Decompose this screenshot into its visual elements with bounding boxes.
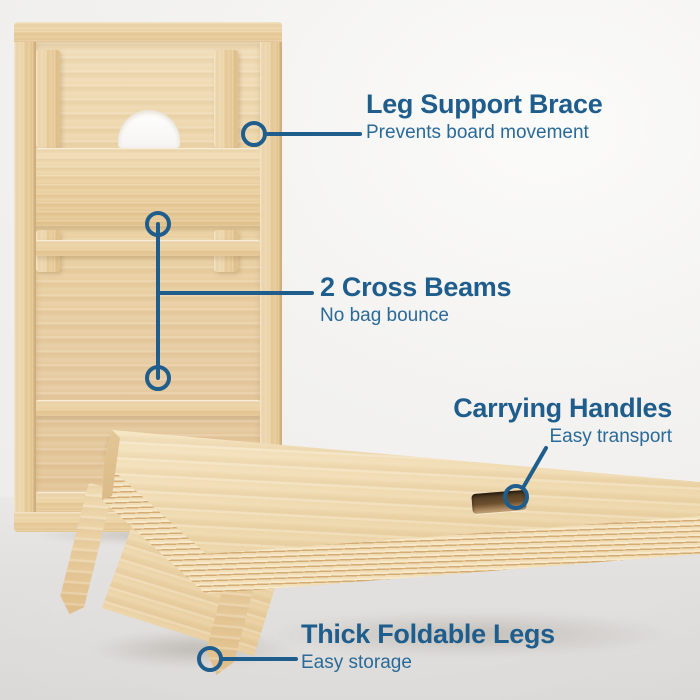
infographic-canvas: Leg Support Brace Prevents board movemen… (0, 0, 700, 700)
callout-title-cross-beams: 2 Cross Beams (320, 273, 511, 302)
folded-leg-bracket-top-right (214, 50, 238, 148)
folded-leg-bracket-top-left (36, 50, 60, 148)
callout-subtitle-thick-foldable-legs: Easy storage (301, 652, 555, 675)
callout-thick-foldable-legs: Thick Foldable Legs Easy storage (301, 620, 555, 675)
cross-beam-upper (36, 240, 260, 256)
callout-leg-support-brace: Leg Support Brace Prevents board movemen… (366, 90, 602, 145)
callout-carrying-handles: Carrying Handles Easy transport (406, 394, 672, 449)
leg-support-brace-part (36, 148, 260, 226)
callout-title-thick-foldable-legs: Thick Foldable Legs (301, 620, 555, 649)
callout-subtitle-leg-support-brace: Prevents board movement (366, 122, 602, 145)
frame-rail-left (14, 22, 36, 532)
callout-title-leg-support-brace: Leg Support Brace (366, 90, 602, 119)
frame-rail-top (14, 22, 282, 42)
callout-title-carrying-handles: Carrying Handles (406, 394, 672, 423)
callout-subtitle-carrying-handles: Easy transport (406, 426, 672, 449)
callout-cross-beams: 2 Cross Beams No bag bounce (320, 273, 511, 328)
carrying-handle-cutout (471, 490, 526, 514)
callout-subtitle-cross-beams: No bag bounce (320, 305, 511, 328)
